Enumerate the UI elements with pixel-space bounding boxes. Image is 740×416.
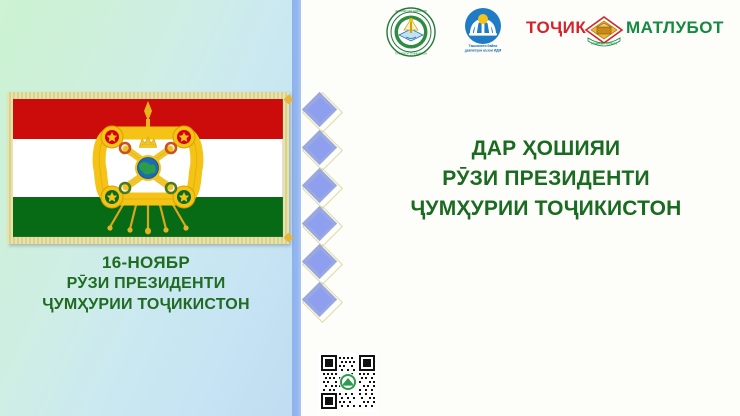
left-caption-line-2: РӮЗИ ПРЕЗИДЕНТИ: [0, 274, 292, 295]
qr-code-icon[interactable]: [318, 352, 378, 412]
blue-divider-strip: [292, 0, 301, 416]
tojikmatlubot-logo: ТОҶИК ТОҶИКМАТЛУБОТ МАТЛУБОТ: [526, 14, 694, 50]
headline-block: ДАР ҲОШИЯИ РӮЗИ ПРЕЗИДЕНТИ ҶУМҲУРИИ ТОҶИ…: [352, 134, 740, 223]
tojikmatlubot-word-right: МАТЛУБОТ: [626, 18, 724, 38]
flag-body: [13, 99, 283, 237]
tojikmatlubot-diamond-icon: ТОҶИКМАТЛУБОТ: [582, 14, 626, 50]
diamond-icon: [303, 283, 341, 321]
svg-text:ТИҶОРАТИ ТОҶИКИСТОН: ТИҶОРАТИ ТОҶИКИСТОН: [395, 52, 427, 56]
tojikmatlubot-word-left: ТОҶИК: [526, 18, 586, 38]
diamond-decoration-column: [303, 93, 349, 321]
svg-text:ДОНИШГОҲИ ДАВЛАТИИ: ДОНИШГОҲИ ДАВЛАТИИ: [395, 9, 426, 13]
headline-line-2: РӮЗИ ПРЕЗИДЕНТИ: [352, 164, 740, 194]
diamond-icon: [303, 169, 341, 207]
headline-line-3: ҶУМҲУРИИ ТОҶИКИСТОН: [352, 194, 740, 224]
tajik-state-university-seal-icon: ДОНИШГОҲИ ДАВЛАТИИ ТИҶОРАТИ ТОҶИКИСТОН: [386, 7, 436, 57]
diamond-icon: [303, 207, 341, 245]
presidential-emblem-icon: [84, 99, 212, 237]
svg-text:Ташкилоти байни: Ташкилоти байни: [469, 44, 498, 48]
left-caption-line-3: ҶУМҲУРИИ ТОҶИКИСТОН: [0, 295, 292, 316]
svg-text:ТОҶИКМАТЛУБОТ: ТОҶИКМАТЛУБОТ: [591, 41, 618, 45]
diamond-icon: [303, 131, 341, 169]
poster-canvas: 16-НОЯБР РӮЗИ ПРЕЗИДЕНТИ ҶУМҲУРИИ ТОҶИКИ…: [0, 0, 740, 416]
diamond-icon: [303, 245, 341, 283]
tajikistan-presidential-standard: [7, 92, 289, 244]
cis-emblem-icon: Ташкилоти байни давлатҳои аъзои ИДМ: [460, 6, 506, 58]
qr-code[interactable]: [318, 352, 378, 412]
headline-line-1: ДАР ҲОШИЯИ: [352, 134, 740, 164]
svg-text:давлатҳои аъзои ИДМ: давлатҳои аъзои ИДМ: [465, 49, 502, 53]
header-logo-row: ДОНИШГОҲИ ДАВЛАТИИ ТИҶОРАТИ ТОҶИКИСТОН Т…: [380, 4, 700, 60]
left-caption-line-1: 16-НОЯБР: [0, 252, 292, 274]
left-caption: 16-НОЯБР РӮЗИ ПРЕЗИДЕНТИ ҶУМҲУРИИ ТОҶИКИ…: [0, 252, 292, 316]
